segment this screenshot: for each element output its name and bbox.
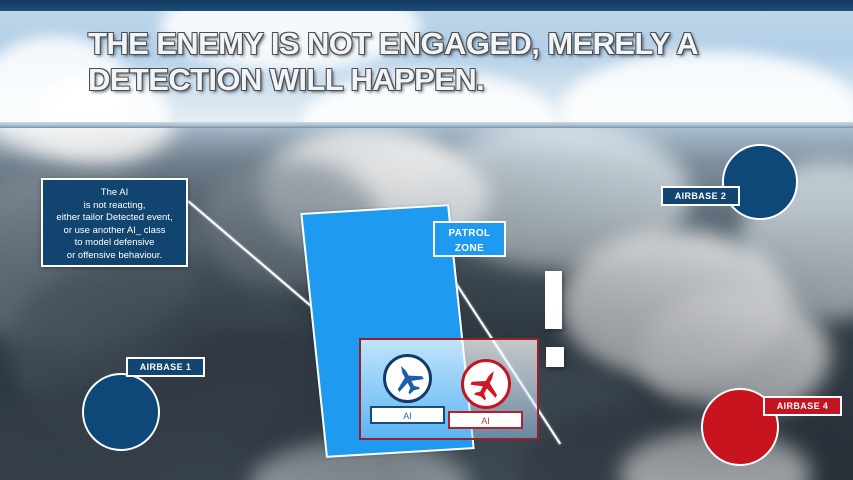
slide-title: THE ENEMY IS NOT ENGAGED, MERELY A DETEC…	[88, 26, 808, 98]
airbase-1-circle[interactable]	[82, 373, 160, 451]
unit-red-ai-label[interactable]: AI	[448, 411, 523, 429]
airbase-2-label[interactable]: AIRBASE 2	[661, 186, 740, 206]
unit-blue-ai-label[interactable]: AI	[370, 406, 445, 424]
info-note-ai-behaviour: The AI is not reacting, either tailor De…	[41, 178, 188, 267]
fighter-jet-icon-red[interactable]	[461, 359, 511, 409]
header-top-bar	[0, 0, 853, 11]
header-divider	[0, 122, 853, 128]
airbase-2-circle[interactable]	[722, 144, 798, 220]
detection-panel[interactable]: AI AI	[359, 338, 539, 440]
presentation-slide: THE ENEMY IS NOT ENGAGED, MERELY A DETEC…	[0, 0, 853, 480]
airbase-1-label[interactable]: AIRBASE 1	[126, 357, 205, 377]
patrol-zone-label[interactable]: PATROL ZONE	[433, 221, 506, 257]
airbase-4-label[interactable]: AIRBASE 4	[763, 396, 842, 416]
fighter-jet-icon-blue[interactable]	[383, 354, 432, 403]
